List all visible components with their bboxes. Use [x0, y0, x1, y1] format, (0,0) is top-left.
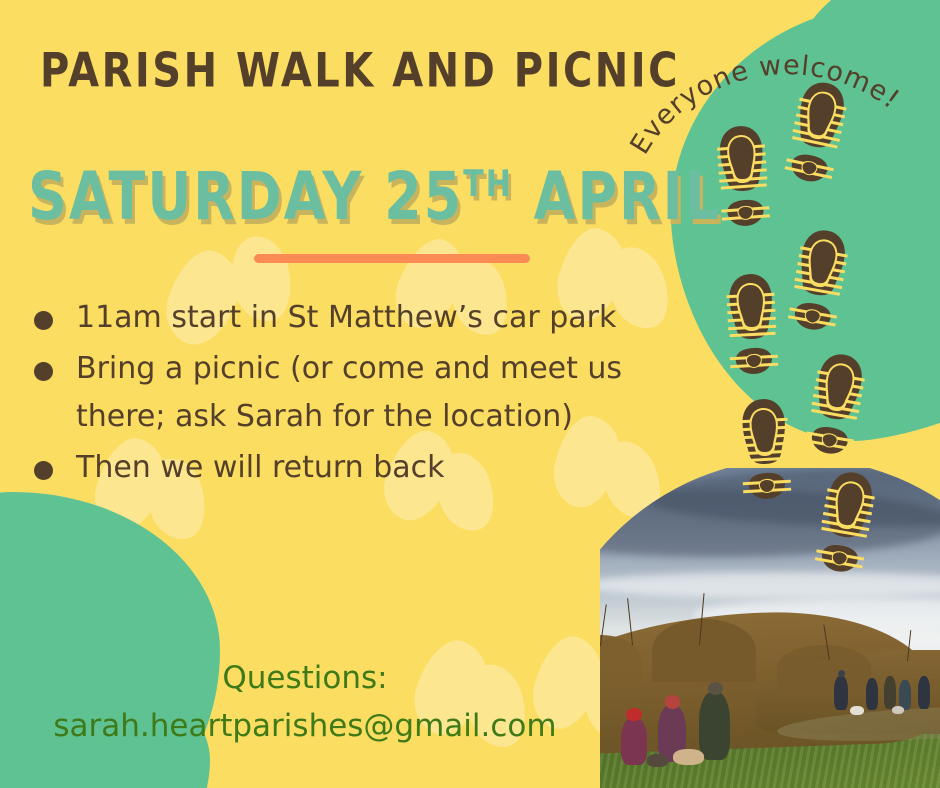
boot-print-icon — [719, 271, 784, 378]
questions-label: Questions: — [0, 660, 610, 696]
bullet-dot-icon — [34, 362, 53, 381]
bullet-dot-icon — [34, 461, 53, 480]
list-item-text: Bring a picnic (or come and meet us ther… — [76, 351, 622, 435]
page-title: PARISH WALK AND PICNIC — [40, 44, 680, 98]
walk-photo — [600, 468, 940, 788]
event-date-ordinal: TH — [463, 163, 513, 206]
list-item: Bring a picnic (or come and meet us ther… — [22, 345, 682, 442]
orange-divider — [254, 254, 530, 263]
event-date: SATURDAY 25TH APRIL — [28, 158, 721, 235]
event-date-main: SATURDAY 25 — [28, 158, 463, 235]
photo-circular-mask — [600, 468, 940, 788]
event-date-month: APRIL — [534, 158, 721, 235]
details-list: 11am start in St Matthew’s car park Brin… — [22, 294, 682, 494]
bullet-dot-icon — [34, 311, 53, 330]
contact-email[interactable]: sarah.heartparishes@gmail.com — [0, 708, 610, 744]
list-item-text: Then we will return back — [76, 450, 445, 485]
boot-print-icon — [732, 396, 797, 503]
poster-canvas: Everyone welcome! PARISH WALK AND PICNIC… — [0, 0, 940, 788]
list-item-text: 11am start in St Matthew’s car park — [76, 300, 616, 335]
list-item: Then we will return back — [22, 444, 682, 493]
photo-content — [600, 468, 940, 788]
list-item: 11am start in St Matthew’s car park — [22, 294, 682, 343]
